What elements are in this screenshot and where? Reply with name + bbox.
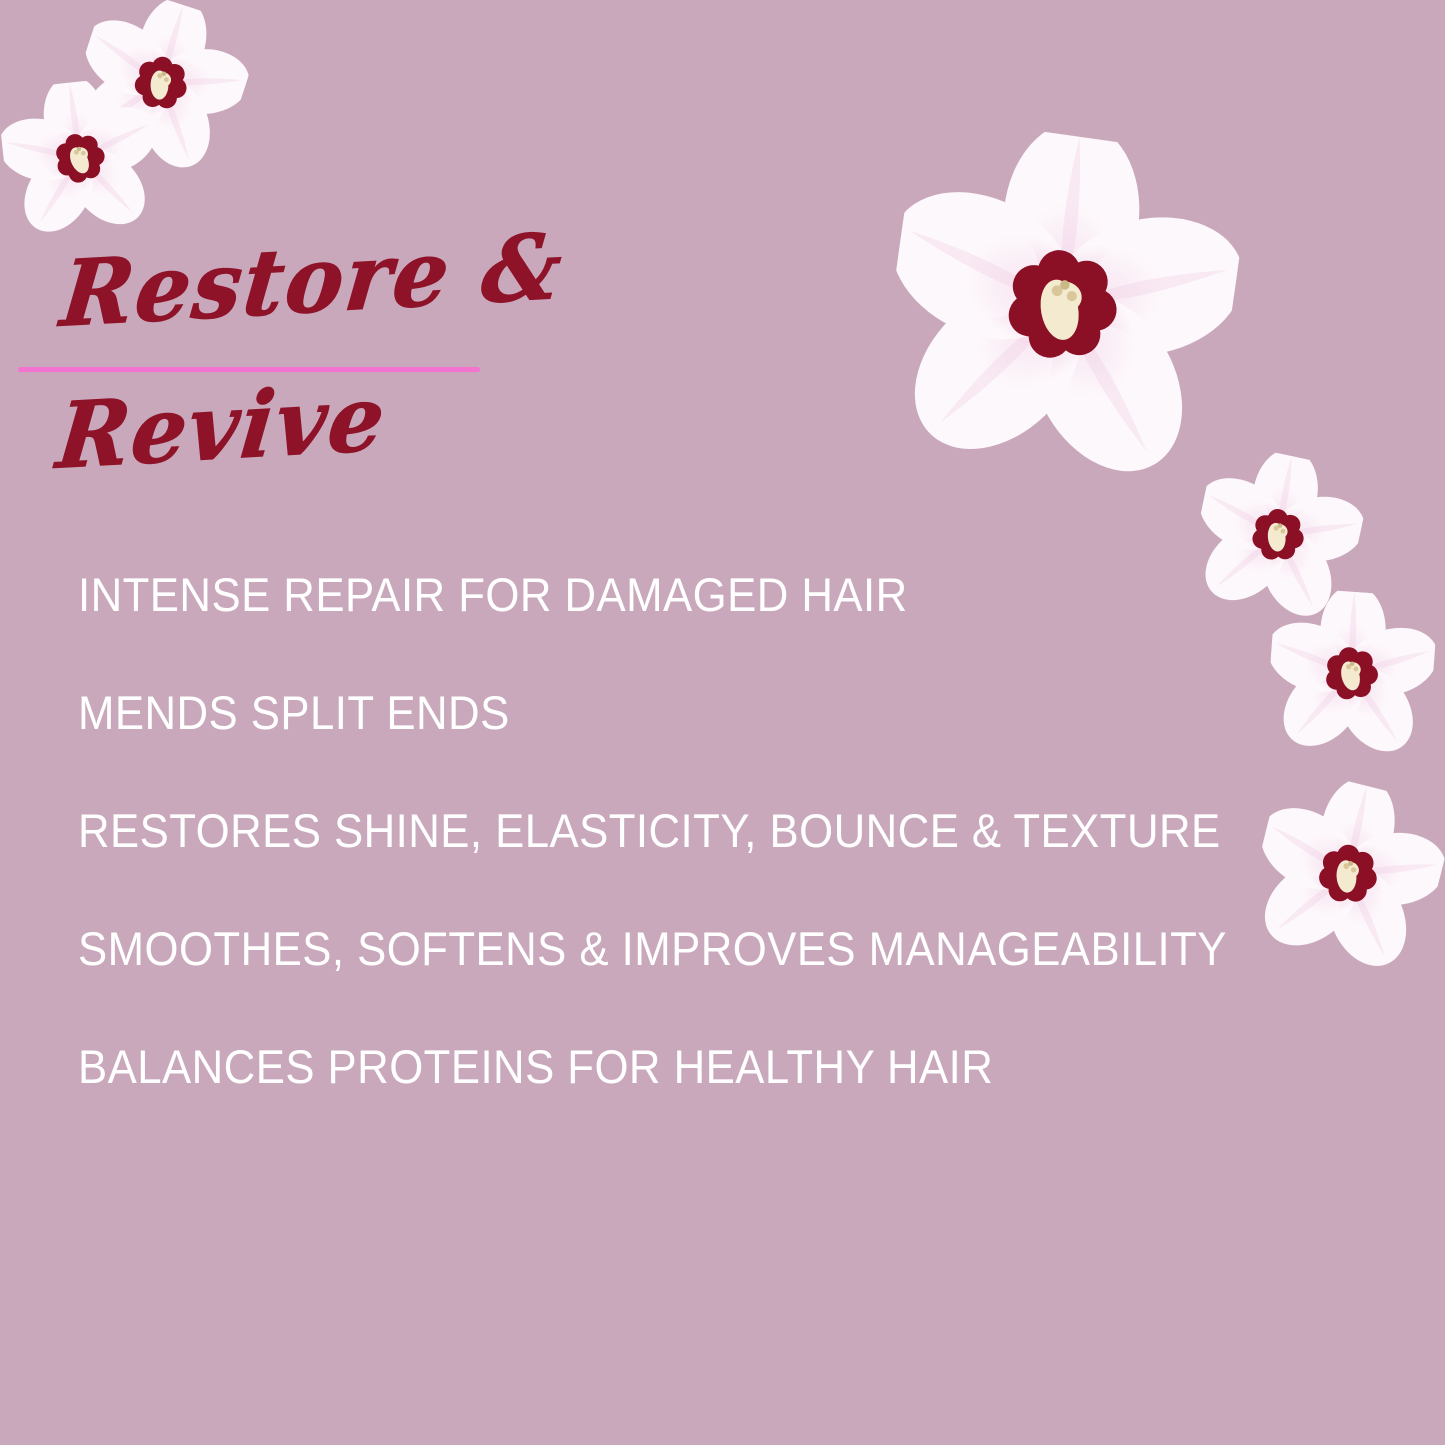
flower-large-top-right-icon xyxy=(871,114,1253,496)
title-line-restore: Restore & xyxy=(57,213,569,348)
title-block: Restore & Revive xyxy=(0,236,700,486)
benefit-item: INTENSE REPAIR FOR DAMAGED HAIR xyxy=(78,536,1250,654)
benefits-list: INTENSE REPAIR FOR DAMAGED HAIR MENDS SP… xyxy=(78,536,1338,1126)
benefit-item: RESTORES SHINE, ELASTICITY, BOUNCE & TEX… xyxy=(78,772,1250,890)
benefit-item: SMOOTHES, SOFTENS & IMPROVES MANAGEABILI… xyxy=(78,890,1250,1008)
poster-canvas: Restore & Revive INTENSE REPAIR FOR DAMA… xyxy=(0,0,1445,1445)
benefit-item: BALANCES PROTEINS FOR HEALTHY HAIR xyxy=(78,1008,1250,1126)
title-line-revive: Revive xyxy=(53,365,392,490)
flower-top-left-lower-icon xyxy=(0,74,164,241)
title-divider-line xyxy=(18,367,480,372)
benefit-item: MENDS SPLIT ENDS xyxy=(78,654,1250,772)
